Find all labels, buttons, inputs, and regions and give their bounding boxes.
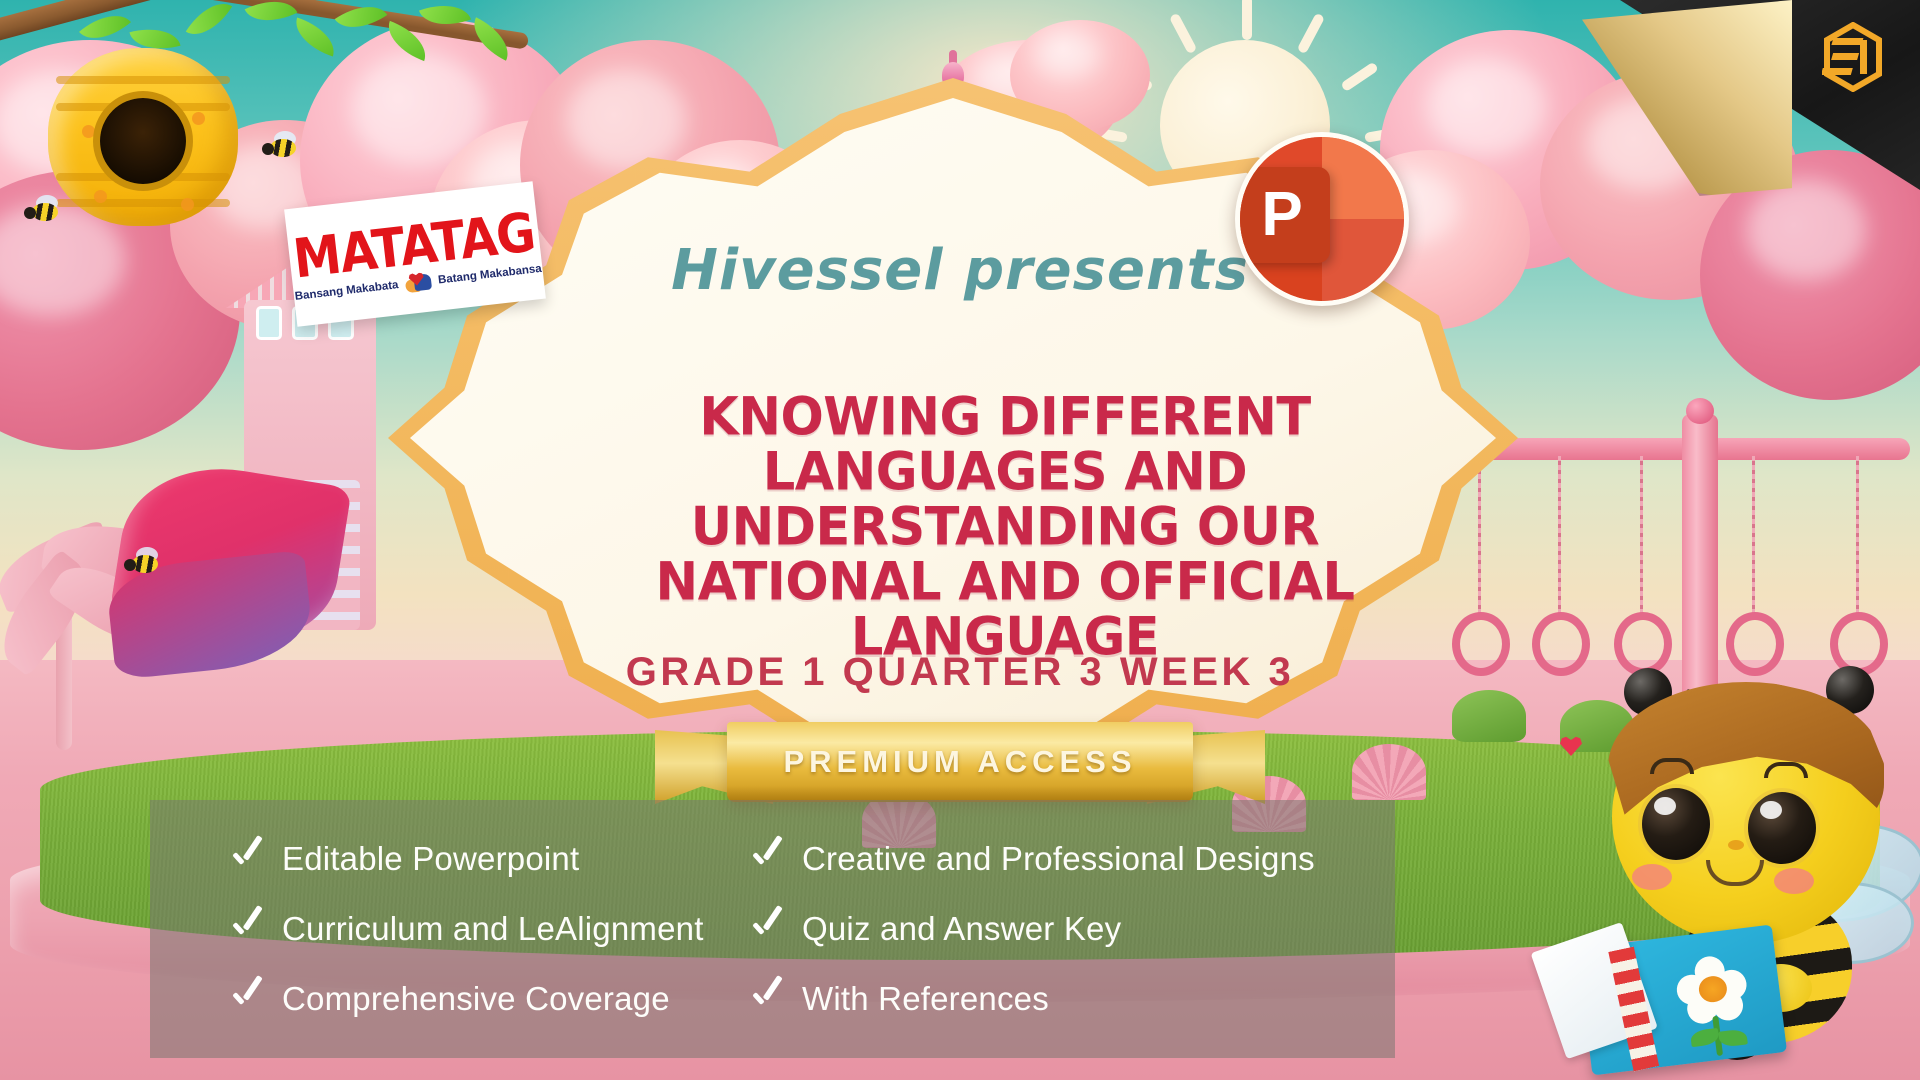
check-icon xyxy=(750,909,784,949)
bee-icon xyxy=(262,136,302,160)
title-line: KNOWING DIFFERENT xyxy=(449,390,1562,445)
list-item: Editable Powerpoint xyxy=(230,824,750,894)
feature-label: Editable Powerpoint xyxy=(282,840,579,878)
list-item: Quiz and Answer Key xyxy=(750,894,1370,964)
hexagon-hive-logo-icon xyxy=(1822,22,1884,92)
page-title: KNOWING DIFFERENT LANGUAGES AND UNDERSTA… xyxy=(449,390,1562,665)
powerpoint-letter: P xyxy=(1261,184,1302,246)
bee-mascot-reading-book-icon xyxy=(1588,664,1918,1080)
ribbon-label: PREMIUM ACCESS xyxy=(783,744,1136,780)
check-icon xyxy=(230,909,264,949)
bee-icon xyxy=(124,552,164,576)
presents-line: Hivessel presents xyxy=(0,238,1920,303)
check-icon xyxy=(750,839,784,879)
title-line: UNDERSTANDING OUR xyxy=(449,500,1562,555)
check-icon xyxy=(230,979,264,1019)
bee-icon xyxy=(24,200,64,224)
beehive-icon xyxy=(48,48,238,226)
list-item: Creative and Professional Designs xyxy=(750,824,1370,894)
book-icon xyxy=(1577,925,1787,1076)
flower-icon xyxy=(1675,954,1750,1024)
feature-label: Curriculum and LeAlignment xyxy=(282,910,704,948)
feature-column-left: Editable Powerpoint Curriculum and LeAli… xyxy=(230,824,750,1034)
feature-column-right: Creative and Professional Designs Quiz a… xyxy=(750,824,1370,1034)
feature-bar: Editable Powerpoint Curriculum and LeAli… xyxy=(150,800,1395,1058)
feature-label: Creative and Professional Designs xyxy=(802,840,1315,878)
feature-label: With References xyxy=(802,980,1049,1018)
list-item: Comprehensive Coverage xyxy=(230,964,750,1034)
list-item: With References xyxy=(750,964,1370,1034)
feature-label: Comprehensive Coverage xyxy=(282,980,670,1018)
title-line: LANGUAGES AND xyxy=(449,445,1562,500)
powerpoint-icon: P xyxy=(1235,132,1409,306)
title-line: NATIONAL AND OFFICIAL xyxy=(449,555,1562,610)
poster-canvas: MATATAG Bansang Makabata Batang Makabans… xyxy=(0,0,1920,1080)
check-icon xyxy=(750,979,784,1019)
check-icon xyxy=(230,839,264,879)
feature-label: Quiz and Answer Key xyxy=(802,910,1121,948)
list-item: Curriculum and LeAlignment xyxy=(230,894,750,964)
